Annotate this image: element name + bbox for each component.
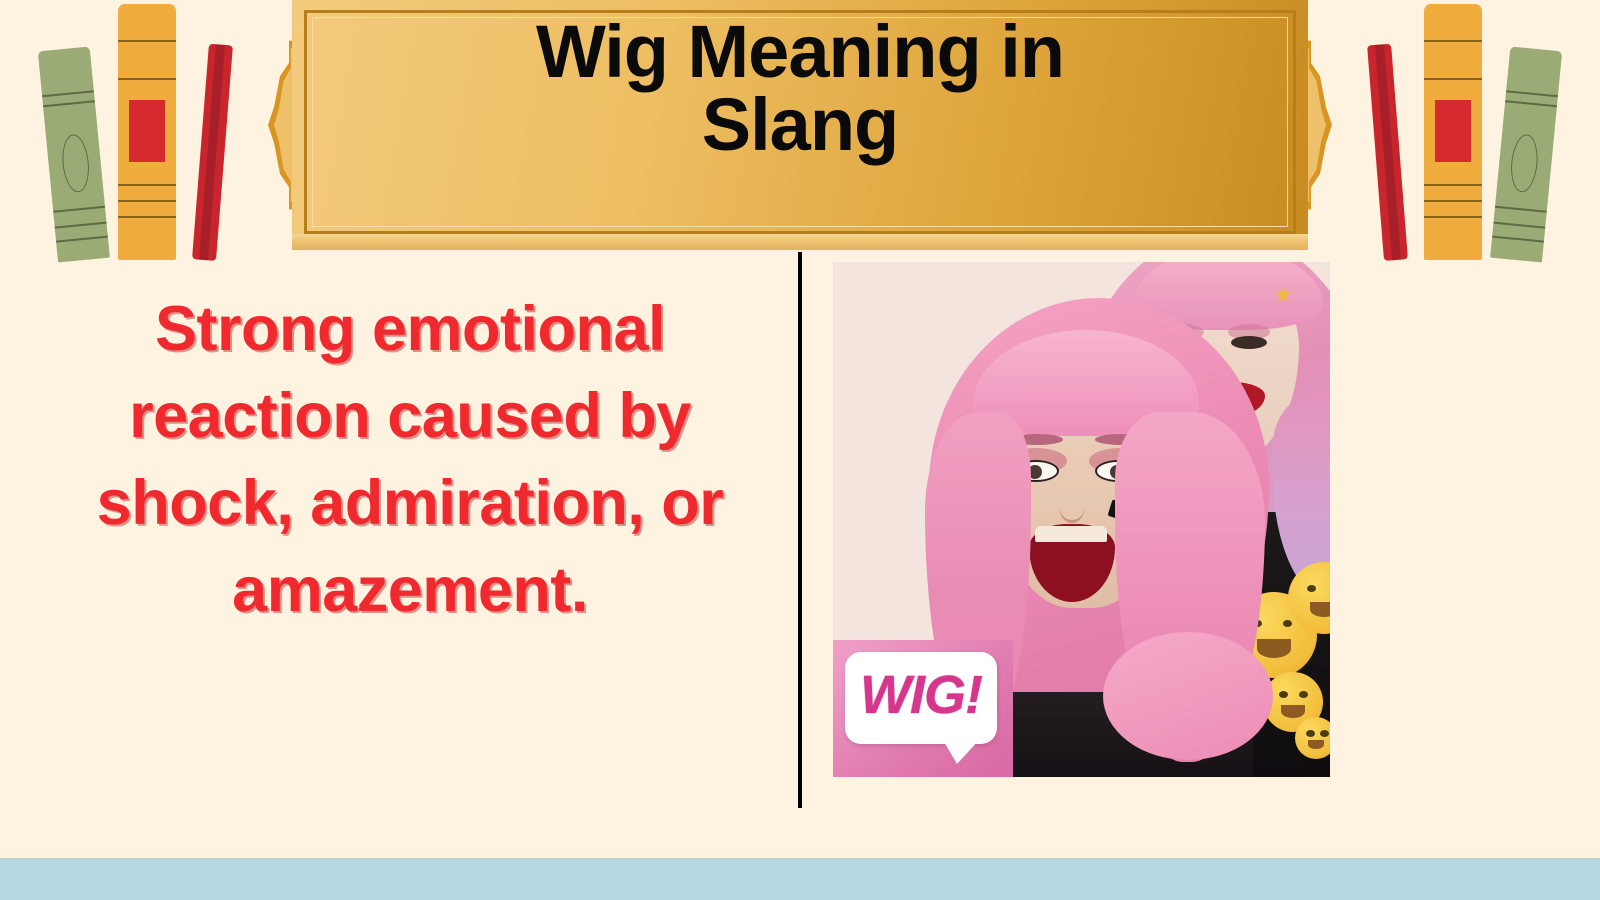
back-woman-eye-right xyxy=(1231,336,1267,349)
book-band xyxy=(1506,90,1558,97)
emoji-mouth xyxy=(1308,740,1325,749)
emoji-eye xyxy=(1320,730,1329,737)
book-band xyxy=(1505,100,1557,107)
book-oval-emblem xyxy=(1509,133,1540,193)
book-band xyxy=(1495,206,1547,213)
book-band xyxy=(42,90,94,97)
emoji-eye xyxy=(1299,691,1308,698)
books-decoration-right xyxy=(1310,0,1580,260)
book-band xyxy=(118,78,176,80)
book-stripe xyxy=(1375,44,1401,260)
book-band xyxy=(56,236,108,243)
wig-speech-bubble: WIG! xyxy=(845,652,997,744)
front-woman-hair-curl xyxy=(1103,632,1273,760)
emoji-sticker-icon xyxy=(1295,717,1330,759)
page-title-line-2: Slang xyxy=(270,89,1330,162)
emoji-mouth xyxy=(1281,705,1305,718)
book-band xyxy=(118,216,176,218)
book-label-patch xyxy=(1435,100,1471,162)
emoji-eye xyxy=(1307,585,1316,592)
green-book-icon xyxy=(1490,46,1562,262)
book-band xyxy=(1424,200,1482,202)
book-band xyxy=(118,184,176,186)
page-title: Wig Meaning in Slang xyxy=(270,16,1330,161)
banner-base-strip xyxy=(292,234,1308,250)
book-band xyxy=(43,100,95,107)
emoji-eye xyxy=(1279,691,1288,698)
photo-content: WIG! xyxy=(833,262,1330,777)
green-book-icon xyxy=(38,46,110,262)
red-book-icon xyxy=(1367,44,1408,261)
emoji-eye xyxy=(1283,620,1292,627)
title-banner: Wig Meaning in Slang xyxy=(270,0,1330,250)
emoji-mouth xyxy=(1310,602,1330,618)
wig-photo: WIG! xyxy=(833,262,1330,777)
book-band xyxy=(55,222,107,229)
books-decoration-left xyxy=(20,0,290,260)
book-band xyxy=(1424,184,1482,186)
vertical-divider xyxy=(798,252,802,808)
emoji-eye xyxy=(1306,730,1315,737)
wig-bubble-text: WIG! xyxy=(845,668,997,722)
book-band xyxy=(118,40,176,42)
book-band xyxy=(53,206,105,213)
front-woman-nose xyxy=(1059,490,1085,523)
book-label-patch xyxy=(129,100,165,162)
book-band xyxy=(1492,236,1544,243)
slide-canvas: Wig Meaning in Slang Strong emotional re… xyxy=(0,0,1600,900)
front-woman-teeth xyxy=(1035,526,1107,542)
description-text: Strong emotional reaction caused by shoc… xyxy=(60,286,760,634)
red-book-icon xyxy=(192,44,233,261)
orange-book-icon xyxy=(118,4,176,260)
orange-book-icon xyxy=(1424,4,1482,260)
book-oval-emblem xyxy=(60,133,91,193)
book-band xyxy=(1424,78,1482,80)
book-stripe xyxy=(199,44,225,260)
book-band xyxy=(118,200,176,202)
book-band xyxy=(1424,216,1482,218)
bottom-bar xyxy=(0,858,1600,900)
book-band xyxy=(1424,40,1482,42)
emoji-mouth xyxy=(1257,639,1291,658)
page-title-line-1: Wig Meaning in xyxy=(270,16,1330,89)
book-band xyxy=(1493,222,1545,229)
